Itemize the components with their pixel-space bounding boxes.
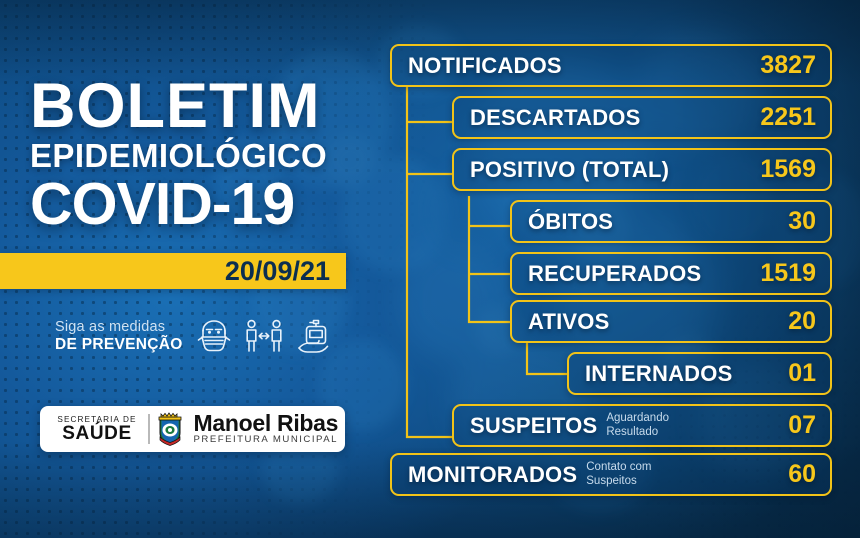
row-suspeitos[interactable]: SUSPEITOS AguardandoResultado 07 <box>452 404 832 447</box>
row-value: 1569 <box>760 155 816 184</box>
row-sublabel: AguardandoResultado <box>606 412 669 439</box>
row-value: 01 <box>788 359 816 388</box>
row-recuperados[interactable]: RECUPERADOS 1519 <box>510 252 832 295</box>
row-descartados[interactable]: DESCARTADOS 2251 <box>452 96 832 139</box>
row-value: 20 <box>788 307 816 336</box>
row-ativos[interactable]: ATIVOS 20 <box>510 300 832 343</box>
row-value: 30 <box>788 207 816 236</box>
row-obitos[interactable]: ÓBITOS 30 <box>510 200 832 243</box>
row-label: RECUPERADOS <box>528 261 701 287</box>
bulletin-poster: BOLETIM EPIDEMIOLÓGICO COVID-19 20/09/21… <box>0 0 860 538</box>
row-value: 3827 <box>760 51 816 80</box>
row-label: ATIVOS <box>528 309 609 335</box>
row-value: 60 <box>788 460 816 489</box>
row-label: POSITIVO (TOTAL) <box>470 157 669 183</box>
row-value: 2251 <box>760 103 816 132</box>
row-label: INTERNADOS <box>585 361 732 387</box>
row-sublabel: Contato comSuspeitos <box>586 461 651 488</box>
row-label: ÓBITOS <box>528 209 613 235</box>
row-label: NOTIFICADOS <box>408 53 562 79</box>
row-label: DESCARTADOS <box>470 105 640 131</box>
row-value: 1519 <box>760 259 816 288</box>
statistics-tree: NOTIFICADOS 3827 DESCARTADOS 2251 POSITI… <box>0 0 860 538</box>
row-label: MONITORADOS <box>408 462 577 488</box>
row-notificados[interactable]: NOTIFICADOS 3827 <box>390 44 832 87</box>
row-monitorados[interactable]: MONITORADOS Contato comSuspeitos 60 <box>390 453 832 496</box>
row-label: SUSPEITOS <box>470 413 597 439</box>
row-internados[interactable]: INTERNADOS 01 <box>567 352 832 395</box>
row-positivo-total[interactable]: POSITIVO (TOTAL) 1569 <box>452 148 832 191</box>
row-value: 07 <box>788 411 816 440</box>
